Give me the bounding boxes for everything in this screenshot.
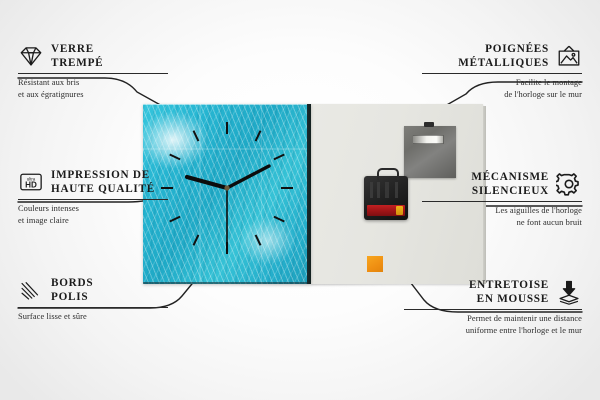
feature-rule <box>18 199 168 200</box>
feature-header: ultra HD IMPRESSION DE HAUTE QUALITÉ <box>18 168 168 196</box>
feature-title-line2: POLIS <box>51 290 93 304</box>
feature-title: ENTRETOISE EN MOUSSE <box>469 278 549 306</box>
feature-title: MÉCANISME SILENCIEUX <box>471 170 549 198</box>
feature-title-line1: POIGNÉES <box>458 42 549 56</box>
polished-edges-icon <box>18 277 44 303</box>
diamond-icon <box>18 43 44 69</box>
feature-title: BORDS POLIS <box>51 276 93 304</box>
clock-mechanism <box>364 176 408 220</box>
feature-description: Résistant aux bris et aux égratignures <box>18 77 168 100</box>
ultra-hd-icon: ultra HD <box>18 169 44 195</box>
feature-title-line2: EN MOUSSE <box>469 292 549 306</box>
battery <box>367 205 405 216</box>
panel-top-highlight <box>143 104 311 105</box>
feature-title-line1: ENTRETOISE <box>469 278 549 292</box>
infographic-canvas: VERRE TREMPÉ Résistant aux bris et aux é… <box>0 0 600 400</box>
gear-icon <box>556 171 582 197</box>
picture-frame-icon <box>556 43 582 69</box>
feature-entretoise-en-mousse: ENTRETOISE EN MOUSSE Permet de maintenir… <box>404 278 582 336</box>
feature-description: Facilite le montage de l'horloge sur le … <box>422 77 582 100</box>
feature-title-line1: VERRE <box>51 42 103 56</box>
feature-title: POIGNÉES MÉTALLIQUES <box>458 42 549 70</box>
feature-title: IMPRESSION DE HAUTE QUALITÉ <box>51 168 155 196</box>
svg-text:HD: HD <box>25 181 37 190</box>
feature-bords-polis: BORDS POLIS Surface lisse et sûre <box>18 276 168 323</box>
feature-header: VERRE TREMPÉ <box>18 42 168 70</box>
feature-header: ENTRETOISE EN MOUSSE <box>404 278 582 306</box>
panel-right-edge <box>307 104 311 284</box>
panel-bottom-shade <box>143 282 311 284</box>
feature-title-line2: MÉTALLIQUES <box>458 56 549 70</box>
foam-spacer <box>367 256 383 272</box>
feature-rule <box>18 307 168 308</box>
feature-description: Couleurs intenses et image claire <box>18 203 168 226</box>
feature-title-line1: IMPRESSION DE <box>51 168 155 182</box>
hanger-slot <box>412 135 444 144</box>
feature-title-line2: SILENCIEUX <box>471 184 549 198</box>
feature-header: POIGNÉES MÉTALLIQUES <box>422 42 582 70</box>
feather-artwork <box>143 104 311 284</box>
feature-rule <box>404 309 582 310</box>
feature-mecanisme-silencieux: MÉCANISME SILENCIEUX Les aiguilles de l'… <box>422 170 582 228</box>
feature-description: Surface lisse et sûre <box>18 311 168 323</box>
foam-spacer-icon <box>556 279 582 305</box>
feature-rule <box>422 73 582 74</box>
feature-poignees-metalliques: POIGNÉES MÉTALLIQUES Facilite le montage… <box>422 42 582 100</box>
mechanism-vents <box>368 182 404 198</box>
feature-title-line1: BORDS <box>51 276 93 290</box>
feature-header: MÉCANISME SILENCIEUX <box>422 170 582 198</box>
feature-title-line2: TREMPÉ <box>51 56 103 70</box>
feature-title-line2: HAUTE QUALITÉ <box>51 182 155 196</box>
clock-face-panel <box>143 104 311 284</box>
feature-impression-haute-qualite: ultra HD IMPRESSION DE HAUTE QUALITÉ Cou… <box>18 168 168 226</box>
feature-header: BORDS POLIS <box>18 276 168 304</box>
feature-rule <box>422 201 582 202</box>
hanger-nub <box>424 122 434 127</box>
feature-description: Permet de maintenir une distance uniform… <box>404 313 582 336</box>
feature-description: Les aiguilles de l'horloge ne font aucun… <box>422 205 582 228</box>
feature-verre-trempe: VERRE TREMPÉ Résistant aux bris et aux é… <box>18 42 168 100</box>
mechanism-hanging-loop <box>377 168 399 180</box>
feature-title: VERRE TREMPÉ <box>51 42 103 70</box>
feature-rule <box>18 73 168 74</box>
feature-title-line1: MÉCANISME <box>471 170 549 184</box>
